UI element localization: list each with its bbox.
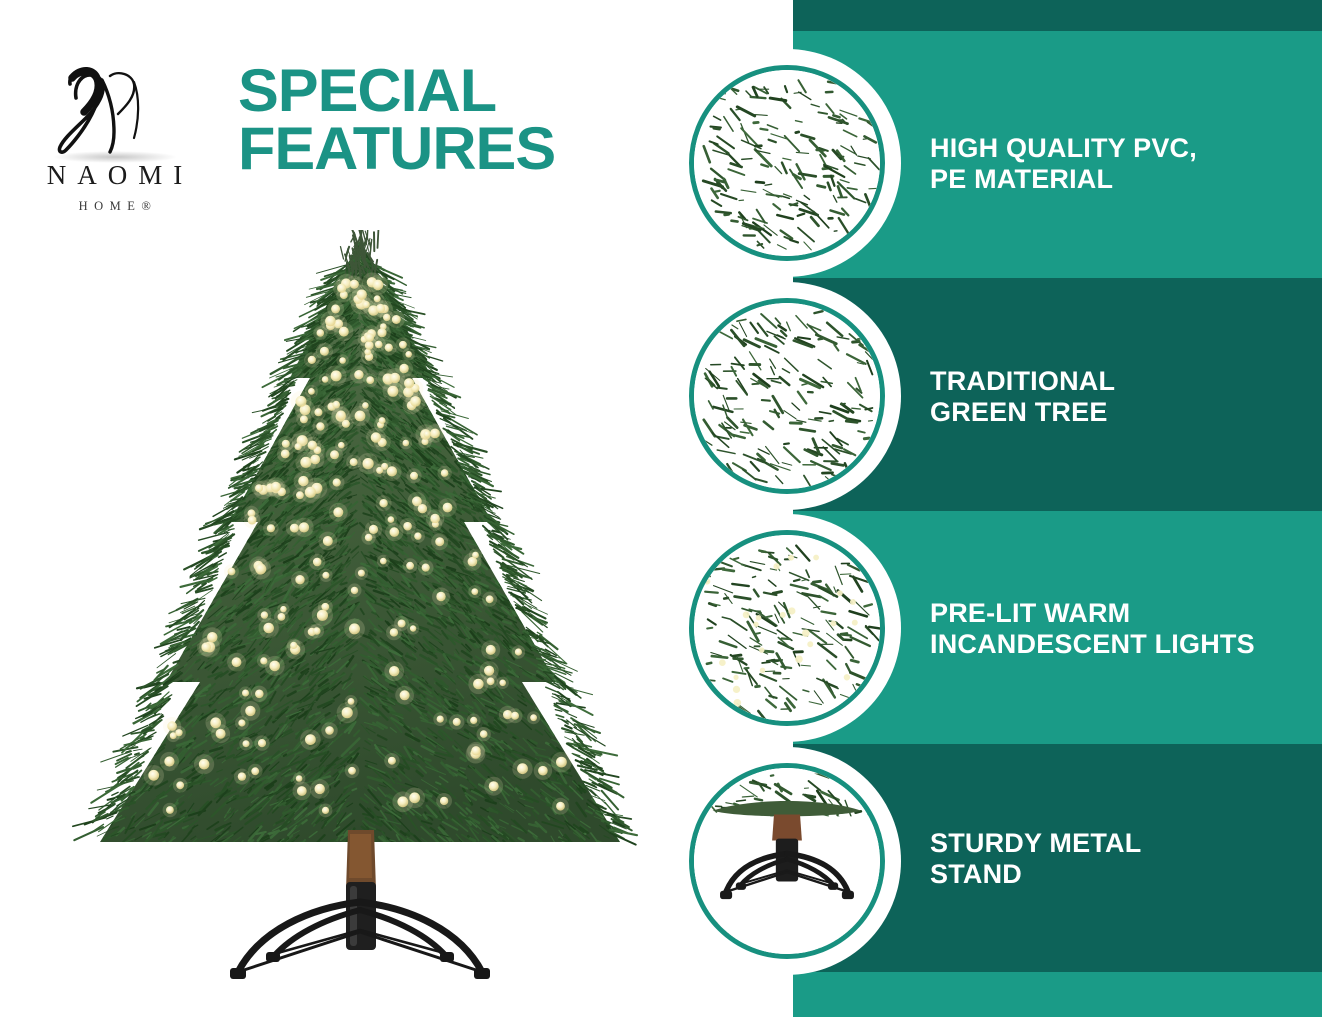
feature-label-pre-lit-warm-incandescent-lights: PRE-LIT WARMINCANDESCENT LIGHTS	[930, 598, 1255, 660]
feature-circle-high-quality-material	[673, 49, 901, 277]
feature-label-line: HIGH QUALITY PVC,	[930, 133, 1197, 164]
circle-photo-traditional-green-tree	[694, 303, 880, 489]
feature-label-traditional-green-tree: TRADITIONALGREEN TREE	[930, 366, 1115, 428]
christmas-tree-illustration	[60, 230, 680, 990]
feature-label-line: INCANDESCENT LIGHTS	[930, 629, 1255, 660]
feature-label-line: TRADITIONAL	[930, 366, 1115, 397]
circle-photo-pre-lit-warm-incandescent-lights	[694, 535, 880, 721]
feature-label-line: STAND	[930, 859, 1141, 890]
circle-photo-high-quality-material	[694, 70, 880, 256]
feature-label-line: STURDY METAL	[930, 828, 1141, 859]
feature-circle-pre-lit-warm-incandescent-lights	[673, 514, 901, 742]
circle-teal-ring	[689, 530, 885, 726]
feature-label-high-quality-material: HIGH QUALITY PVC,PE MATERIAL	[930, 133, 1197, 195]
band-top-accent-strip	[793, 0, 1322, 31]
circle-photo-sturdy-metal-stand	[694, 768, 880, 954]
brand-subtitle: HOME®	[10, 199, 220, 214]
page-title: SPECIAL FEATURES	[238, 62, 677, 178]
metal-stand-illustration	[230, 882, 490, 979]
marketing-banner: NAOMI HOME® SPECIAL FEATURES	[0, 0, 1322, 1017]
circle-teal-ring	[689, 298, 885, 494]
band-bottom-strip	[793, 972, 1322, 1017]
feature-label-line: GREEN TREE	[930, 397, 1115, 428]
naomi-script-monogram-icon	[10, 58, 220, 166]
product-image	[60, 230, 680, 990]
feature-label-line: PRE-LIT WARM	[930, 598, 1255, 629]
feature-circle-sturdy-metal-stand	[673, 747, 901, 975]
circle-teal-ring	[689, 763, 885, 959]
feature-circle-traditional-green-tree	[673, 282, 901, 510]
page-title-line2: FEATURES	[238, 120, 677, 178]
feature-label-sturdy-metal-stand: STURDY METALSTAND	[930, 828, 1141, 890]
brand-logo: NAOMI HOME®	[10, 58, 220, 223]
brand-name: NAOMI	[10, 162, 220, 189]
tree-trunk	[346, 830, 376, 890]
circle-teal-ring	[689, 65, 885, 261]
page-title-line1: SPECIAL	[238, 62, 677, 120]
feature-label-line: PE MATERIAL	[930, 164, 1197, 195]
